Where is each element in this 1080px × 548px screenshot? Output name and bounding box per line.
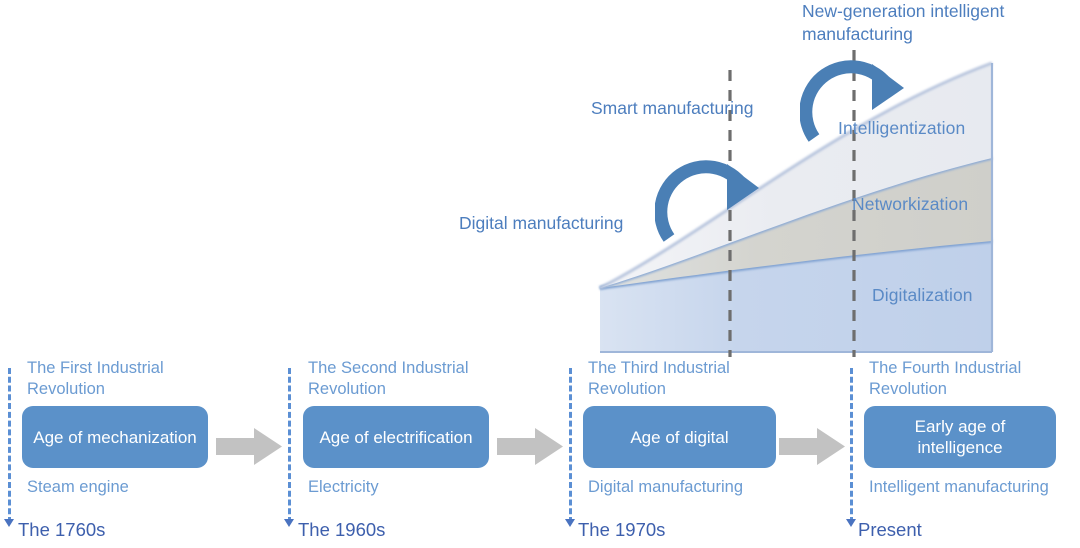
timeline-arrowhead-icon-1 xyxy=(4,519,14,527)
stage-keyword: Steam engine xyxy=(27,478,272,497)
stage-keyword: Intelligent manufacturing xyxy=(869,478,1080,497)
stage-keyword: Digital manufacturing xyxy=(588,478,833,497)
timeline-arrowhead-icon-4 xyxy=(846,519,856,527)
stage-box-age-of-electrification[interactable]: Age of electrification xyxy=(303,406,489,468)
transition-arrow-icon-3 xyxy=(779,428,845,465)
caption-digital-manufacturing: Digital manufacturing xyxy=(459,213,623,234)
timeline-axis-2 xyxy=(288,368,294,523)
curved-arrow-icon-smart-manufacturing xyxy=(655,138,773,246)
stage-title: The Second Industrial Revolution xyxy=(308,358,523,400)
stage-box-age-of-mechanization[interactable]: Age of mechanization xyxy=(22,406,208,468)
transition-arrow-icon-1 xyxy=(216,428,282,465)
curved-arrow-icon-new-generation xyxy=(800,38,918,146)
stage-column-fourth-revolution: The Fourth Industrial Revolution Early a… xyxy=(864,358,1080,497)
stage-box-age-of-digital[interactable]: Age of digital xyxy=(583,406,776,468)
diagram-canvas: Intelligentization Networkization Digita… xyxy=(0,0,1080,548)
timeline-date: The 1760s xyxy=(18,519,105,541)
transition-arrow-icon-2 xyxy=(497,428,563,465)
stage-title: The First Industrial Revolution xyxy=(27,358,242,400)
timeline-date: Present xyxy=(858,519,922,541)
timeline-arrowhead-icon-2 xyxy=(284,519,294,527)
timeline-date: The 1970s xyxy=(578,519,665,541)
stage-box-early-age-of-intelligence[interactable]: Early age of intelligence xyxy=(864,406,1056,468)
stage-title: The Third Industrial Revolution xyxy=(588,358,803,400)
band-label-networkization: Networkization xyxy=(852,194,968,215)
timeline-date: The 1960s xyxy=(298,519,385,541)
timeline-axis-4 xyxy=(850,368,856,523)
band-label-digitalization: Digitalization xyxy=(872,285,973,306)
caption-smart-manufacturing: Smart manufacturing xyxy=(591,98,753,119)
stage-keyword: Electricity xyxy=(308,478,553,497)
timeline-axis-1 xyxy=(8,368,14,523)
timeline-axis-3 xyxy=(569,368,575,523)
timeline-arrowhead-icon-3 xyxy=(565,519,575,527)
stage-title: The Fourth Industrial Revolution xyxy=(869,358,1080,400)
